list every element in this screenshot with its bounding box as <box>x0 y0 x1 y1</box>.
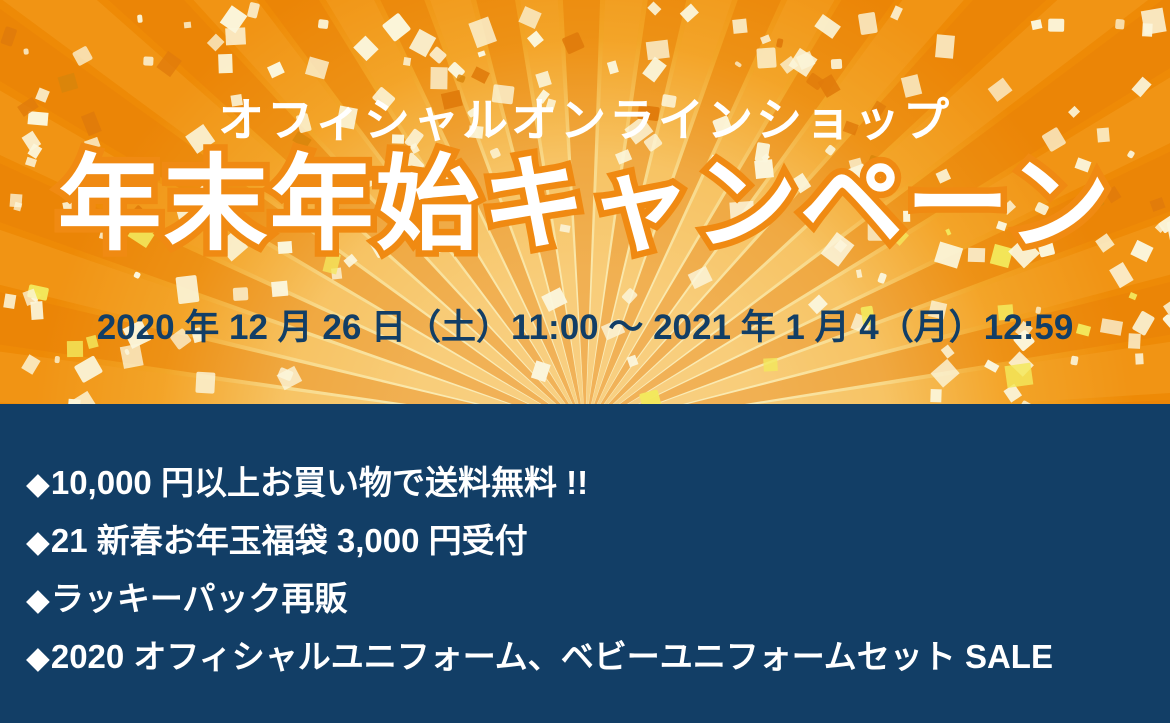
banner-title: 年末年始キャンペーン <box>0 150 1170 260</box>
banner-subtitle: オフィシャルオンラインショップ <box>0 84 1170 150</box>
list-item-label: 2020 オフィシャルユニフォーム、ベビーユニフォームセット SALE <box>51 630 1053 678</box>
banner-top-panel: オフィシャルオンラインショップ 年末年始キャンペーン 2020 年 12 月 2… <box>0 0 1170 404</box>
diamond-bullet-icon: ◆ <box>26 526 50 557</box>
list-item-label: ラッキーパック再販 <box>51 572 348 620</box>
diamond-bullet-icon: ◆ <box>26 642 50 673</box>
list-item: ◆ 2020 オフィシャルユニフォーム、ベビーユニフォームセット SALE <box>26 630 1036 688</box>
diamond-bullet-icon: ◆ <box>26 584 50 615</box>
list-item: ◆ 21 新春お年玉福袋 3,000 円受付 <box>26 514 1036 572</box>
banner-bottom-panel: ◆ 10,000 円以上お買い物で送料無料 !! ◆ 21 新春お年玉福袋 3,… <box>0 404 1170 723</box>
list-item-label: 10,000 円以上お買い物で送料無料 !! <box>51 456 588 504</box>
list-item: ◆ 10,000 円以上お買い物で送料無料 !! <box>26 456 1036 514</box>
campaign-period: 2020 年 12 月 26 日（土）11:00 ～ 2021 年 1 月 4（… <box>0 299 1170 350</box>
list-item: ◆ ラッキーパック再販 <box>26 572 1036 630</box>
offer-list: ◆ 10,000 円以上お買い物で送料無料 !! ◆ 21 新春お年玉福袋 3,… <box>26 456 1036 688</box>
diamond-bullet-icon: ◆ <box>26 468 50 499</box>
list-item-label: 21 新春お年玉福袋 3,000 円受付 <box>51 514 528 562</box>
campaign-banner: オフィシャルオンラインショップ 年末年始キャンペーン 2020 年 12 月 2… <box>0 0 1170 723</box>
